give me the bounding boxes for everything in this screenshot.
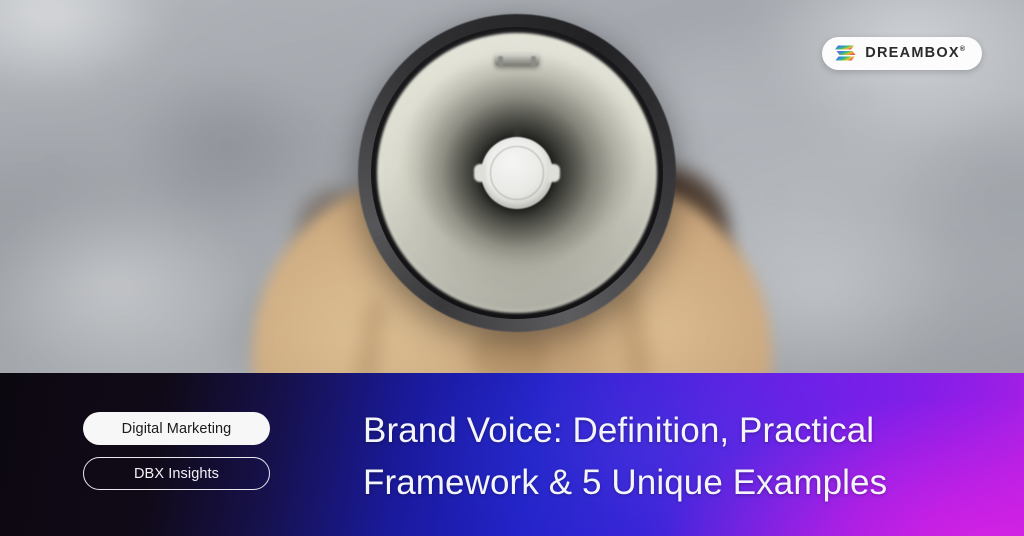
tag-dbx-insights[interactable]: DBX Insights bbox=[83, 457, 270, 490]
dreambox-gradient-stack-icon bbox=[835, 44, 856, 63]
tag-label: Digital Marketing bbox=[122, 421, 232, 437]
dreambox-logo-text: DREAMBOX® bbox=[865, 46, 965, 61]
page-title-line-2: Framework & 5 Unique Examples bbox=[363, 457, 963, 509]
tag-digital-marketing[interactable]: Digital Marketing bbox=[83, 412, 270, 445]
dreambox-logo-badge[interactable]: DREAMBOX® bbox=[822, 37, 982, 70]
page-title: Brand Voice: Definition, Practical Frame… bbox=[363, 405, 963, 509]
megaphone-top-bracket bbox=[495, 54, 539, 66]
banner-canvas: DREAMBOX® Digital Marketing DBX Insights… bbox=[0, 0, 1024, 536]
page-title-line-1: Brand Voice: Definition, Practical bbox=[363, 405, 963, 457]
megaphone-icon bbox=[358, 14, 676, 332]
title-banner: Digital Marketing DBX Insights Brand Voi… bbox=[0, 373, 1024, 536]
megaphone-driver-tab-left bbox=[474, 164, 486, 182]
megaphone-driver-tab-right bbox=[548, 164, 560, 182]
tag-label: DBX Insights bbox=[134, 466, 219, 482]
logo-trademark-symbol: ® bbox=[960, 46, 965, 53]
coat-fold-center bbox=[470, 330, 550, 375]
megaphone-driver bbox=[481, 137, 553, 209]
category-tag-list: Digital Marketing DBX Insights bbox=[83, 412, 270, 490]
